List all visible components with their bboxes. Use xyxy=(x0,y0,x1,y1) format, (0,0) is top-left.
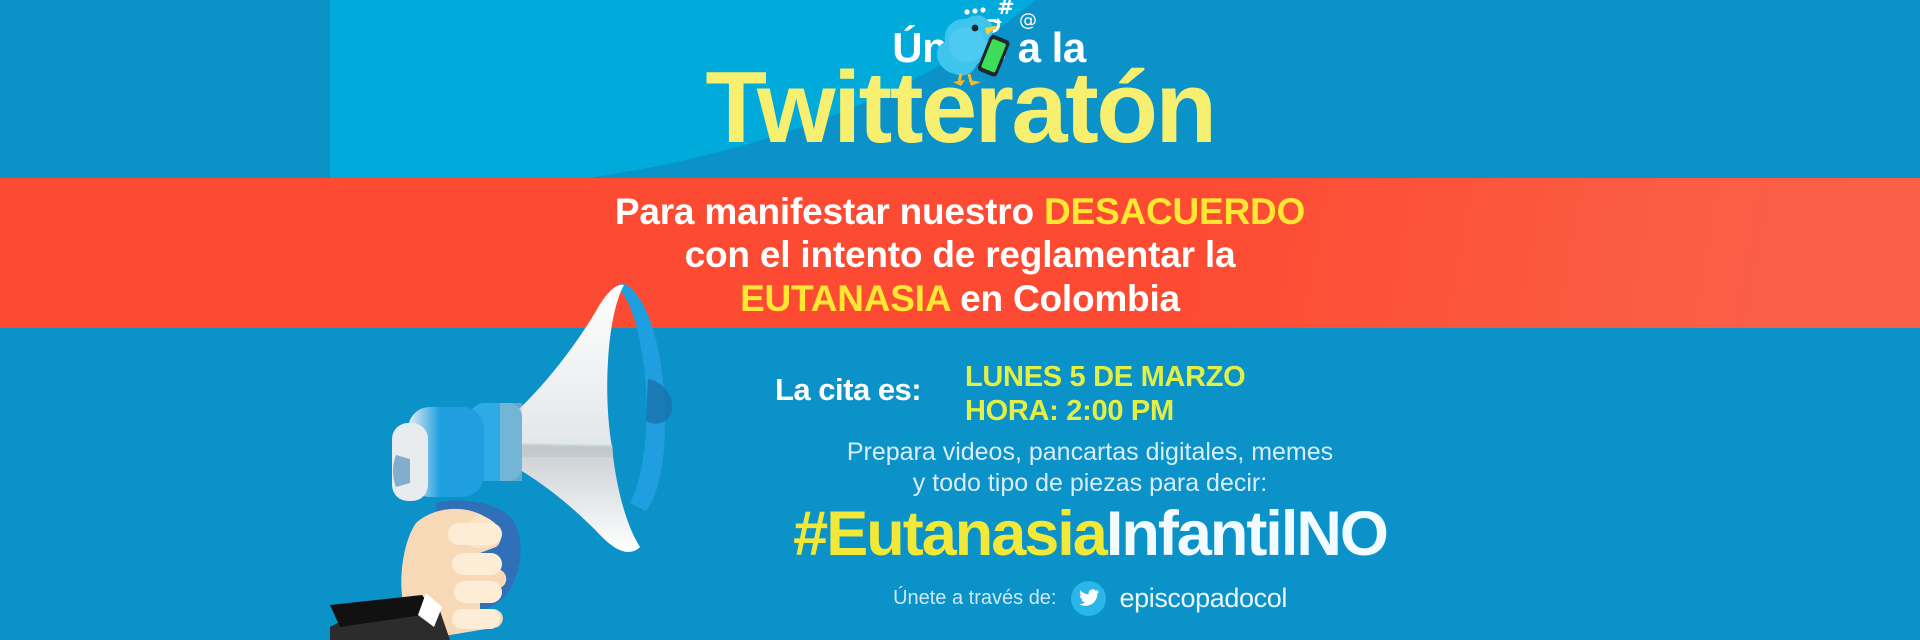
appointment-row: La cita es: LUNES 5 DE MARZO HORA: 2:00 … xyxy=(640,360,1540,422)
page-title: Twitteratón xyxy=(0,58,1920,159)
statement-line-3: EUTANASIA en Colombia xyxy=(0,277,1920,320)
svg-text:@: @ xyxy=(1019,10,1037,31)
hashtag-highlight: #Eutanasia xyxy=(793,499,1106,569)
footer-label: Únete a través de: xyxy=(893,587,1056,610)
twitter-bird-icon[interactable] xyxy=(1071,581,1106,616)
statement-emphasis-desacuerdo: DESACUERDO xyxy=(1044,191,1305,232)
statement-line-1-prefix: Para manifestar nuestro xyxy=(615,191,1044,232)
campaign-banner: Únete a la # @ xyxy=(0,0,1920,640)
campaign-hashtag: #EutanasiaInfantilNO xyxy=(600,498,1580,570)
footer-row: Únete a través de: episcopadocol xyxy=(640,578,1540,618)
statement-line-1: Para manifestar nuestro DESACUERDO xyxy=(0,190,1920,233)
statement-emphasis-eutanasia: EUTANASIA xyxy=(740,278,950,319)
bird-eye xyxy=(972,25,979,32)
svg-text:#: # xyxy=(997,0,1015,19)
instructions-text: Prepara videos, pancartas digitales, mem… xyxy=(640,437,1540,499)
twitter-handle[interactable]: episcopadocol xyxy=(1120,583,1287,614)
appointment-datetime: LUNES 5 DE MARZO HORA: 2:00 PM xyxy=(965,360,1245,428)
statement-line-3-suffix: en Colombia xyxy=(950,278,1180,319)
appointment-label: La cita es: xyxy=(775,372,921,408)
statement-band: Para manifestar nuestro DESACUERDO con e… xyxy=(0,178,1920,328)
hashtag-rest: InfantilNO xyxy=(1106,499,1387,569)
statement-line-2: con el intento de reglamentar la xyxy=(0,233,1920,276)
statement-text: Para manifestar nuestro DESACUERDO con e… xyxy=(0,178,1920,320)
